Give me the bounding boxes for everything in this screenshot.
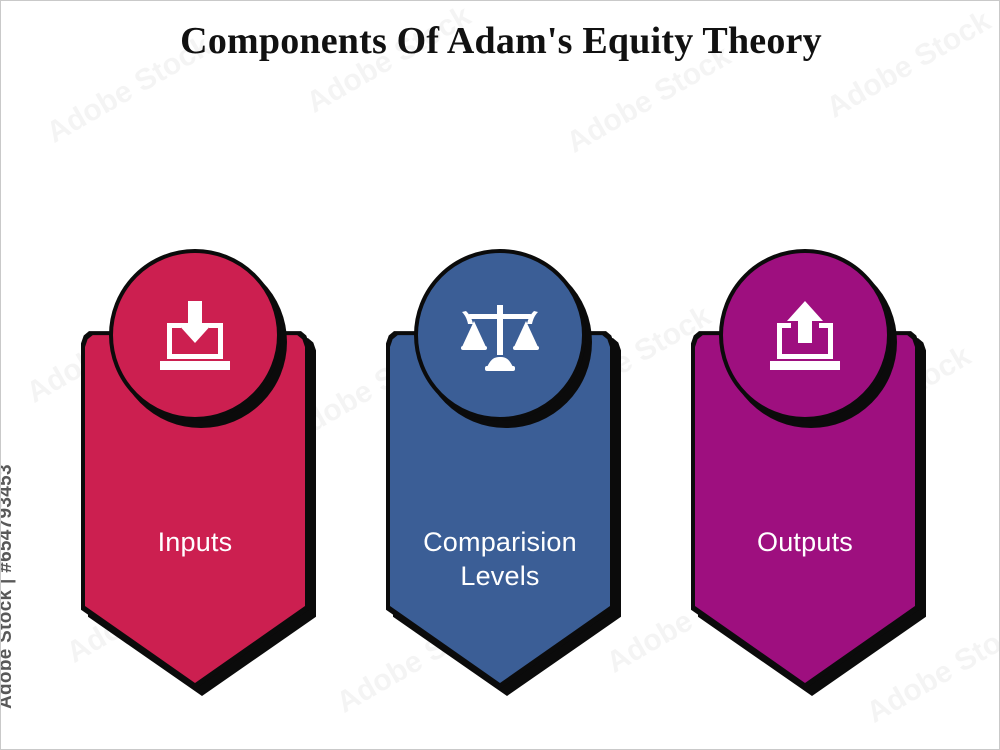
infographic-canvas: Adobe Stock Adobe Stock Adobe Stock Adob…: [0, 0, 1000, 750]
balance-scale-icon: [460, 297, 540, 373]
component-inputs[interactable]: Inputs: [81, 249, 316, 689]
banner-label: Inputs: [85, 525, 305, 559]
component-outputs[interactable]: Outputs: [691, 249, 926, 689]
laptop-download-icon: [156, 299, 234, 371]
laptop-upload-icon: [766, 299, 844, 371]
watermark-attribution: Adobe Stock | #654793453: [0, 464, 17, 709]
banner-label: Comparision Levels: [390, 525, 610, 593]
icon-badge-outputs[interactable]: [719, 249, 891, 421]
icon-badge-inputs[interactable]: [109, 249, 281, 421]
page-title: Components Of Adam's Equity Theory: [1, 19, 1000, 63]
banner-label: Outputs: [695, 525, 915, 559]
icon-badge-comparision-levels[interactable]: [414, 249, 586, 421]
component-comparision-levels[interactable]: Comparision Levels: [386, 249, 621, 689]
